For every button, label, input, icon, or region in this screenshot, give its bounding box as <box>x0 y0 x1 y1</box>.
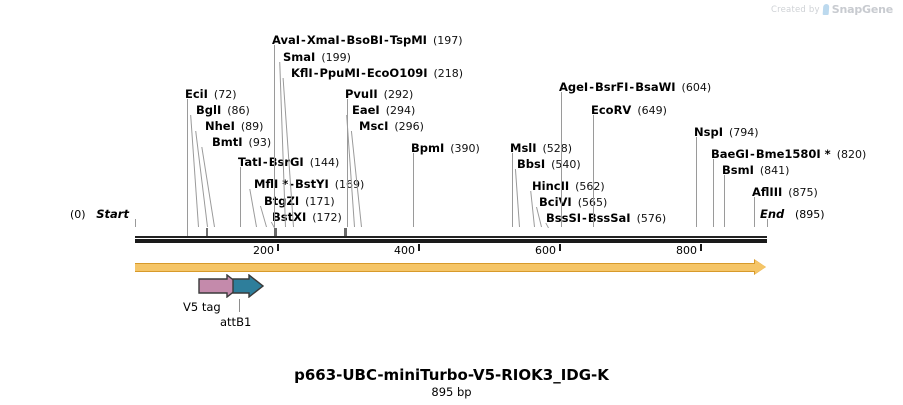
leader-line-528 <box>512 153 513 227</box>
enzyme-name: MslI <box>510 141 537 155</box>
enzyme-label-292[interactable]: PvuII(292) <box>345 89 413 101</box>
enzyme-name: BglI <box>196 103 221 117</box>
enzyme-name: PvuII <box>345 87 378 101</box>
ruler-label-600: 600 <box>535 244 556 257</box>
enzyme-label-794[interactable]: NspI(794) <box>694 127 759 139</box>
enzyme-label-649[interactable]: EcoRV(649) <box>591 105 667 117</box>
enzyme-label-296[interactable]: MscI(296) <box>359 121 424 133</box>
enzyme-label-820[interactable]: BaeGI-Bme1580I *(820) <box>711 149 866 161</box>
enzyme-name: BtgZI <box>264 194 299 208</box>
end-label: End <box>760 207 784 221</box>
enzyme-label-604[interactable]: AgeI-BsrFI-BsaWI(604) <box>559 82 711 94</box>
enzyme-label-218[interactable]: KflI-PpuMI-EcoO109I(218) <box>291 68 463 80</box>
enzyme-position: (218) <box>428 67 464 80</box>
leader-line-144 <box>240 167 241 227</box>
orf-arrowhead <box>755 260 766 274</box>
ruler-label-400: 400 <box>394 244 415 257</box>
enzyme-position: (296) <box>388 120 424 133</box>
enzyme-position: (390) <box>444 142 480 155</box>
end-marker: End (895) <box>760 209 825 221</box>
plasmid-map: Created by SnapGene AvaI-XmaI-BsoBI-TspM… <box>0 0 903 405</box>
enzyme-position: (89) <box>235 120 264 133</box>
enzyme-position: (540) <box>545 158 581 171</box>
enzyme-name: AflIII <box>752 185 782 199</box>
enzyme-name: EaeI <box>352 103 380 117</box>
enzyme-label-199[interactable]: SmaI(199) <box>283 52 351 64</box>
start-position: (0) <box>70 208 86 221</box>
enzyme-name: HincII <box>532 179 569 193</box>
ruler-label-800: 800 <box>676 244 697 257</box>
enzyme-label-841[interactable]: BsmI(841) <box>722 165 789 177</box>
snapgene-logo-icon <box>822 4 829 15</box>
enzyme-name: BbsI <box>517 157 545 171</box>
ruler-tick-400 <box>418 244 420 251</box>
leader-line-649 <box>593 115 594 227</box>
ruler-label-200: 200 <box>253 244 274 257</box>
watermark-brand: SnapGene <box>832 3 893 16</box>
leader-line-794 <box>696 137 697 227</box>
leader-line-390 <box>413 153 414 227</box>
enzyme-name: BaeGI <box>711 147 749 161</box>
leader-line-start <box>135 219 136 227</box>
enzyme-label-294[interactable]: EaeI(294) <box>352 105 415 117</box>
enzyme-name: EciI <box>185 87 208 101</box>
enzyme-label-565[interactable]: BciVI(565) <box>539 197 607 209</box>
leader-line-93 <box>201 147 215 227</box>
enzyme-position: (197) <box>427 34 463 47</box>
enzyme-name: BsaWI <box>635 80 675 94</box>
enzyme-name: BssSI <box>546 211 581 225</box>
leader-line-820 <box>713 159 714 227</box>
enzyme-position: (144) <box>304 156 340 169</box>
start-label: Start <box>89 207 129 221</box>
enzyme-name: BsoBI <box>346 33 383 47</box>
end-position: (895) <box>788 208 825 221</box>
enzyme-position: (649) <box>631 104 667 117</box>
ruler-tick-600 <box>559 244 561 251</box>
leader-line-604 <box>561 92 562 227</box>
ruler-tick-800 <box>700 244 702 251</box>
enzyme-name: AgeI <box>559 80 588 94</box>
enzyme-position: (576) <box>631 212 667 225</box>
enzyme-name: BstXI <box>272 210 306 224</box>
leader-line-end <box>767 219 768 227</box>
enzyme-label-172[interactable]: BstXI(172) <box>272 212 342 224</box>
enzyme-name: TspMI <box>390 33 427 47</box>
backbone-line-top <box>135 236 767 238</box>
enzyme-label-540[interactable]: BbsI(540) <box>517 159 581 171</box>
enzyme-position: (562) <box>569 180 605 193</box>
enzyme-name: NspI <box>694 125 723 139</box>
enzyme-position: (86) <box>221 104 250 117</box>
leader-line-540 <box>515 169 520 227</box>
enzyme-name: EcoO109I <box>367 66 428 80</box>
enzyme-label-390[interactable]: BpmI(390) <box>411 143 480 155</box>
enzyme-position: (199) <box>315 51 351 64</box>
enzyme-position: (292) <box>378 88 414 101</box>
page-title: p663-UBC-miniTurbo-V5-RIOK3_IDG-K <box>0 366 903 384</box>
enzyme-name: BmtI <box>212 135 243 149</box>
leader-line-169 <box>249 189 257 227</box>
enzyme-label-875[interactable]: AflIII(875) <box>752 187 818 199</box>
enzyme-name: BciVI <box>539 195 572 209</box>
leader-line-875 <box>754 197 755 227</box>
enzyme-name: Bme1580I * <box>756 147 831 161</box>
backbone-line[interactable] <box>135 239 767 243</box>
enzyme-position: (841) <box>754 164 790 177</box>
enzyme-position: (294) <box>380 104 416 117</box>
feature-label-v5-tag: V5 tag <box>183 300 221 314</box>
enzyme-name: TatI <box>238 155 262 169</box>
feature-label-attb1: attB1 <box>220 315 251 329</box>
leader-line-197 <box>274 45 275 227</box>
leader-line-565 <box>536 207 542 227</box>
orf-arrow[interactable] <box>135 263 755 272</box>
leader-line-171 <box>260 206 267 227</box>
enzyme-name: KflI <box>291 66 313 80</box>
enzyme-name: NheI <box>205 119 235 133</box>
enzyme-label-528[interactable]: MslI(528) <box>510 143 572 155</box>
enzyme-name: SmaI <box>283 50 315 64</box>
enzyme-name: EcoRV <box>591 103 631 117</box>
enzyme-name: PpuMI <box>320 66 361 80</box>
enzyme-label-93[interactable]: BmtI(93) <box>212 137 271 149</box>
enzyme-label-197[interactable]: AvaI-XmaI-BsoBI-TspMI(197) <box>272 35 463 47</box>
ruler-tick-200 <box>277 244 279 251</box>
enzyme-name: BssSaI <box>588 211 631 225</box>
leader-line-72 <box>187 99 188 237</box>
enzyme-name: BpmI <box>411 141 444 155</box>
feature-leader-attb1 <box>239 299 240 312</box>
enzyme-position: (528) <box>537 142 573 155</box>
enzyme-position: (171) <box>299 195 335 208</box>
plasmid-length: 895 bp <box>0 385 903 399</box>
enzyme-label-72[interactable]: EciI(72) <box>185 89 237 101</box>
feature-attb1[interactable] <box>232 274 264 298</box>
enzyme-position: (875) <box>782 186 818 199</box>
enzyme-position: (565) <box>572 196 608 209</box>
enzyme-name: XmaI <box>307 33 340 47</box>
enzyme-position: (794) <box>723 126 759 139</box>
leader-line-841 <box>724 175 725 227</box>
enzyme-position: (172) <box>306 211 342 224</box>
leader-line-562 <box>530 191 535 227</box>
watermark-created-by: Created by <box>771 5 820 15</box>
start-marker: (0) Start <box>70 209 129 221</box>
enzyme-name: BsmI <box>722 163 754 177</box>
enzyme-name: BstYI <box>295 177 329 191</box>
enzyme-position: (820) <box>831 148 867 161</box>
enzyme-label-89[interactable]: NheI(89) <box>205 121 263 133</box>
snapgene-watermark: Created by SnapGene <box>771 3 893 16</box>
enzyme-name: BsrFI <box>595 80 628 94</box>
enzyme-position: (604) <box>676 81 712 94</box>
enzyme-name: MscI <box>359 119 388 133</box>
enzyme-name: AvaI <box>272 33 300 47</box>
enzyme-position: (93) <box>243 136 272 149</box>
enzyme-label-576[interactable]: BssSI-BssSaI(576) <box>546 213 666 225</box>
enzyme-position: (72) <box>208 88 237 101</box>
enzyme-label-86[interactable]: BglI(86) <box>196 105 250 117</box>
